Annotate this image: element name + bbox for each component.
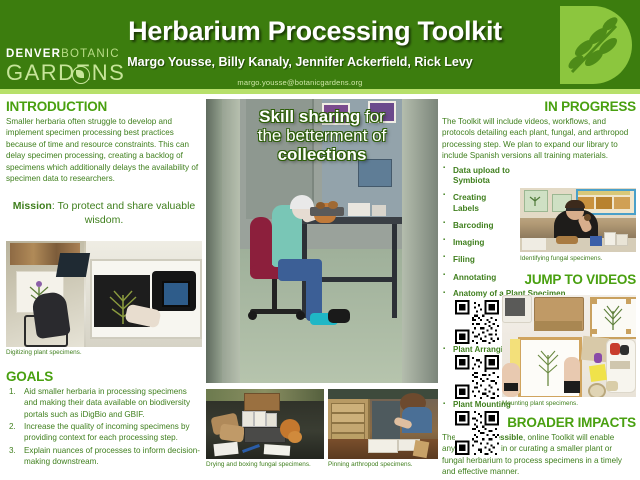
contact-email: margo.yousse@botanicgardens.org [160,78,440,87]
qr-code-plant-mounting-icon[interactable] [455,411,499,455]
overlay-line-1-bold: Skill sharing [259,107,360,126]
goal-text: Increase the quality of incoming specime… [24,422,190,442]
goal-text: Aid smaller herbaria in processing speci… [24,387,190,419]
in-progress-bullets: Data upload to Symbiota Creating Labels … [442,166,514,283]
denver-botanic-gardens-logo: DENVERBOTANIC GARDENS [6,48,128,88]
overlay-line-3-bold: collections [278,145,367,164]
qr-code-plant-arranging-icon[interactable] [455,355,499,399]
video-link-item[interactable]: Plant Mounting [442,400,636,455]
overlay-line-2: the betterment of [222,126,422,145]
bullet-item: Imaging [442,238,514,248]
mounting-plant-caption: Mounting plant specimens. [502,400,578,408]
hero-overlay-text: Skill sharing for the betterment of coll… [222,107,422,164]
logo-botanic-text: BOTANIC [61,48,120,60]
goal-item: 3. Explain nuances of processes to infor… [6,445,202,468]
logo-line-one: DENVERBOTANIC [6,48,120,60]
mission-text: : To protect and share valuable wisdom. [52,200,195,226]
goal-number: 2. [9,421,16,432]
bullet-item: Barcoding [442,221,514,231]
bottom-photo-row: Drying and boxing fungal specimens. Pinn… [206,389,438,459]
in-progress-heading: IN PROGRESS [442,99,636,114]
introduction-body: Smaller herbaria often struggle to devel… [6,116,202,185]
mounting-plant-photo [502,295,636,397]
bullet-item: Annotating [442,273,514,283]
author-list: Margo Yousse, Billy Kanaly, Jennifer Ack… [120,55,480,69]
goals-list: 1. Aid smaller herbaria in processing sp… [6,386,202,467]
introduction-heading: INTRODUCTION [6,99,202,114]
digitizing-photo [6,241,202,347]
drying-boxing-caption: Drying and boxing fungal specimens. [206,461,311,469]
overlay-line-3: collections [222,145,422,164]
header-accent-stripe [0,89,640,94]
goal-item: 1. Aid smaller herbaria in processing sp… [6,386,202,420]
goals-heading: GOALS [6,369,202,384]
goal-number: 1. [9,386,16,397]
bullet-item: Filing [442,255,514,265]
drying-boxing-photo [206,389,324,459]
overlay-line-1: Skill sharing for [222,107,422,126]
middle-column: Skill sharing for the betterment of coll… [206,99,438,459]
right-column: IN PROGRESS The Toolkit will include vid… [442,99,636,478]
pinning-arthropod-photo [328,389,438,459]
page-title: Herbarium Processing Toolkit [60,16,570,47]
poster-canvas: Herbarium Processing Toolkit Margo Youss… [0,0,640,480]
videos-block: Anatomy of a Plant Specimen [442,289,636,413]
mission-statement: Mission: To protect and share valuable w… [12,199,196,227]
goal-number: 3. [9,445,16,456]
poster-header: Herbarium Processing Toolkit Margo Youss… [0,0,640,89]
overlay-line-1-rest: for [360,107,385,126]
pinning-arthropod-caption: Pinning arthropod specimens. [328,461,413,469]
bullet-item: Creating Labels [442,193,514,214]
in-progress-body: The Toolkit will include videos, workflo… [442,116,636,162]
logo-gardens-text: GARDENS [6,60,125,86]
goal-text: Explain nuances of processes to inform d… [24,446,200,466]
digitizing-photo-caption: Digitizing plant specimens. [6,349,202,357]
logo-leaf-emblem-icon [72,66,90,84]
identifying-fungal-caption: Identifying fungal specimens. [520,255,602,263]
logo-denver-text: DENVER [6,48,61,60]
in-progress-block: Data upload to Symbiota Creating Labels … [442,166,636,266]
bullet-item: Data upload to Symbiota [442,166,514,187]
dbg-d-monogram-icon [560,6,632,84]
mission-label: Mission [13,200,52,212]
left-column: INTRODUCTION Smaller herbaria often stru… [6,99,202,468]
skill-sharing-hero-photo: Skill sharing for the betterment of coll… [206,99,438,383]
identifying-fungal-photo [520,188,636,252]
goal-item: 2. Increase the quality of incoming spec… [6,421,202,444]
qr-code-anatomy-of-a-plant-specimen-icon[interactable] [455,300,499,344]
